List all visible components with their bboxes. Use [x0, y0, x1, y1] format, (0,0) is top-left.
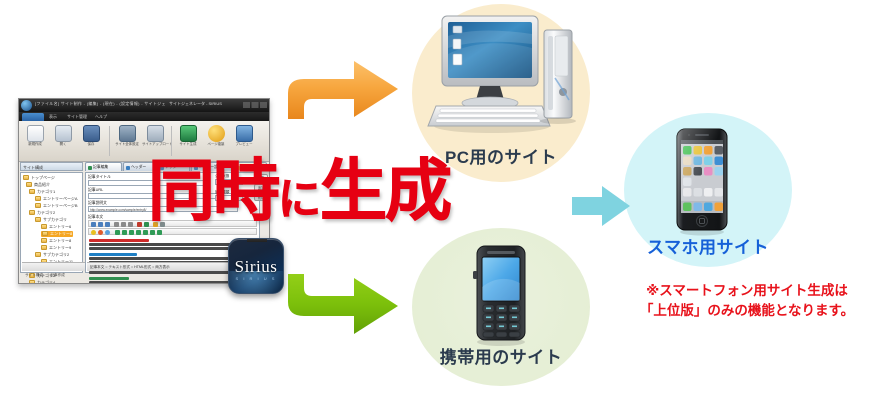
ribbon-button-2[interactable]: 保存 — [78, 125, 104, 147]
site-settings-icon — [119, 125, 136, 142]
tree-panel-footer: サイト構成 記事作成 — [22, 262, 85, 271]
bold-icon[interactable] — [91, 222, 96, 227]
ribbon-button-5[interactable]: サイト生成 — [175, 125, 201, 147]
decoration-3-icon[interactable] — [129, 230, 134, 235]
decoration-5-icon[interactable] — [143, 230, 148, 235]
tree-node-1[interactable]: 商品紹介 — [26, 182, 50, 188]
doc-tab-0-icon — [88, 166, 92, 170]
smartphone-label: スマホ用サイト — [618, 233, 798, 258]
desktop-computer-icon — [424, 14, 580, 140]
app-title-bar: [ファイル名] サイト制作 - (編集) - (現在) - (設定情報) - サ… — [19, 99, 269, 112]
ribbon-button-6[interactable]: ページ複製 — [203, 125, 229, 147]
smartphone-note: ※スマートフォン用サイト生成は 「上位版」のみの機能となります。 — [620, 281, 874, 320]
app-menu-bar: 表示 サイト管理 ヘルプ — [19, 112, 269, 121]
ribbon-label-7: プレビュー — [231, 143, 257, 147]
tree-panel-header: サイト構成 — [20, 162, 83, 171]
tree-footer-tab-1[interactable]: 記事作成 — [50, 273, 64, 277]
italic-icon[interactable] — [98, 222, 103, 227]
ribbon-label-6: ページ複製 — [203, 143, 229, 147]
align-left-icon[interactable] — [114, 222, 119, 227]
align-center-icon[interactable] — [121, 222, 126, 227]
menu-item-1[interactable]: サイト管理 — [67, 114, 87, 120]
ribbon-label-0: 新規作成 — [22, 143, 48, 147]
smartphone-icon — [666, 127, 738, 237]
ribbon-button-1[interactable]: 開く — [50, 125, 76, 147]
tree-node-10[interactable]: エントリー9 — [41, 245, 71, 251]
app-title-text: [ファイル名] サイト制作 - (編集) - (現在) - (設定情報) - サ… — [35, 101, 165, 107]
ribbon-button-3[interactable]: サイト全体設定 — [114, 125, 140, 147]
tree-node-selected[interactable]: エントリー8 — [41, 231, 73, 237]
arrow-to-smartphone-icon — [572, 185, 632, 227]
menu-tab-home[interactable] — [22, 113, 44, 121]
decoration-4-icon[interactable] — [136, 230, 141, 235]
ribbon-label-4: サイトアップロード — [142, 143, 168, 147]
page-duplicate-icon — [208, 125, 225, 142]
underline-icon[interactable] — [105, 222, 110, 227]
menu-item-2[interactable]: ヘルプ — [95, 114, 107, 120]
ribbon-button-0[interactable]: 新規作成 — [22, 125, 48, 147]
site-structure-tree[interactable]: トップページ 商品紹介 カテゴリ1 エントリーページA エントリーページB カテ… — [20, 172, 83, 273]
mobile-label: 携帯用のサイト — [412, 343, 590, 368]
badge-name: Sirius — [229, 257, 283, 277]
open-folder-icon — [55, 125, 72, 142]
ribbon-label-3: サイト全体設定 — [114, 143, 140, 147]
doc-tab-1-icon — [126, 166, 130, 170]
ribbon-label-2: 保存 — [78, 143, 104, 147]
window-controls[interactable] — [243, 102, 267, 108]
note-line-2: 「上位版」のみの機能となります。 — [620, 301, 874, 321]
headline-text: 同時に生成 — [148, 158, 450, 225]
field-value-3: http://www.example.com/sample/entry8/ — [90, 208, 146, 212]
app-title-center-text: サイトジェネレータ - SIRIUS — [169, 101, 222, 107]
tree-node-5[interactable]: カテゴリ2 — [29, 210, 55, 216]
ribbon-separator-1 — [109, 126, 110, 156]
align-right-icon[interactable] — [128, 222, 133, 227]
tree-node-7[interactable]: エントリー6 — [41, 224, 71, 230]
menu-item-0[interactable]: 表示 — [49, 114, 57, 120]
headline-small: に — [278, 175, 320, 225]
tree-node-9[interactable]: エントリー8 — [41, 238, 71, 244]
tree-node-4[interactable]: エントリーページB — [35, 203, 78, 209]
emoji-icon[interactable] — [91, 230, 96, 235]
app-logo-icon — [21, 100, 32, 111]
promo-diagram: PC用のサイト 携帯用のサイト スマホ用サイト ※スマートフォン用サイト生成は … — [0, 0, 874, 400]
tree-node-3[interactable]: エントリーページA — [35, 196, 78, 202]
decoration-2-icon[interactable] — [122, 230, 127, 235]
decoration-7-icon[interactable] — [157, 230, 162, 235]
note-line-1: ※スマートフォン用サイト生成は — [620, 281, 874, 301]
text-color-icon[interactable] — [137, 222, 142, 227]
save-disk-icon — [83, 125, 100, 142]
tree-node-11[interactable]: サブカテゴリ2 — [35, 252, 69, 258]
tree-node-15[interactable]: カテゴリ4 — [29, 280, 55, 284]
doc-tab-0[interactable]: 記事編集 — [85, 162, 122, 171]
highlight-icon[interactable] — [98, 230, 103, 235]
arrow-to-mobile-icon — [284, 272, 402, 338]
arrow-to-pc-icon — [284, 55, 402, 123]
headline-main-1: 同時 — [148, 152, 278, 230]
decoration-6-icon[interactable] — [150, 230, 155, 235]
tree-node-0[interactable]: トップページ — [23, 175, 55, 181]
new-file-icon — [27, 125, 44, 142]
ribbon-button-4[interactable]: サイトアップロード — [142, 125, 168, 147]
badge-connector-icon — [247, 238, 267, 242]
sirius-product-badge: Sirius S I R I U S — [228, 238, 284, 294]
ribbon-label-5: サイト生成 — [175, 143, 201, 147]
upload-icon — [147, 125, 164, 142]
site-generate-icon — [180, 125, 197, 142]
tree-footer-tab-0[interactable]: サイト構成 — [25, 273, 43, 277]
headline-main-2: 生成 — [320, 152, 450, 230]
tree-node-6[interactable]: サブカテゴリ — [35, 217, 67, 223]
decoration-1-icon[interactable] — [115, 230, 120, 235]
feature-phone-icon — [468, 243, 534, 347]
ribbon-button-7[interactable]: プレビュー — [231, 125, 257, 147]
ribbon-label-1: 開く — [50, 143, 76, 147]
box-icon[interactable] — [105, 230, 110, 235]
tree-node-2[interactable]: カテゴリ1 — [29, 189, 55, 195]
preview-icon — [236, 125, 253, 142]
badge-subtitle: S I R I U S — [229, 276, 283, 281]
